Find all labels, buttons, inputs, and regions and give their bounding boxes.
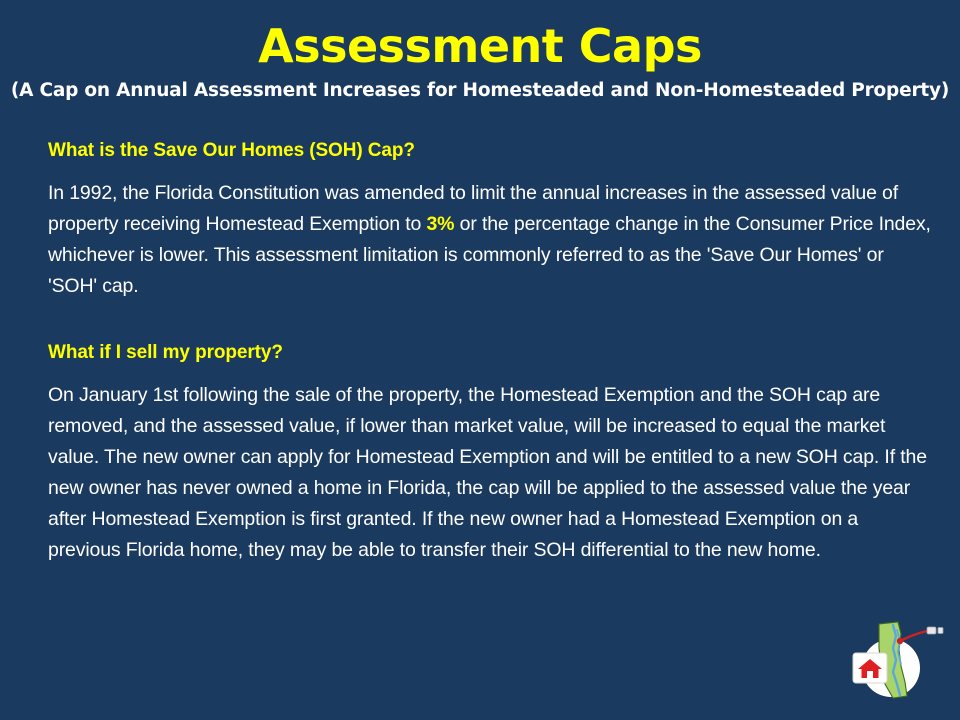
content-area: What is the Save Our Homes (SOH) Cap? In… <box>48 140 934 570</box>
property-appraiser-logo <box>843 618 948 706</box>
logo-pointer-arrow-icon <box>900 631 927 641</box>
logo-house-door-icon <box>867 671 873 678</box>
section-sell-property: What if I sell my property? On January 1… <box>48 342 934 566</box>
logo-graphic <box>843 618 948 706</box>
logo-location-marker-icon <box>897 638 903 644</box>
logo-house-card-icon <box>853 653 887 683</box>
section-body-soh-cap: In 1992, the Florida Constitution was am… <box>48 178 934 302</box>
section-spacer <box>48 306 934 342</box>
title-block: Assessment Caps (A Cap on Annual Assessm… <box>0 0 960 101</box>
section-heading-soh-cap: What is the Save Our Homes (SOH) Cap? <box>48 140 934 162</box>
section-body-sell-property: On January 1st following the sale of the… <box>48 380 934 566</box>
soh-cap-percent-highlight: 3% <box>426 213 454 235</box>
logo-cursor-tail-icon <box>938 628 943 634</box>
slide-root: Assessment Caps (A Cap on Annual Assessm… <box>0 0 960 720</box>
page-subtitle: (A Cap on Annual Assessment Increases fo… <box>0 80 960 101</box>
section-heading-sell-property: What if I sell my property? <box>48 342 934 364</box>
section-soh-cap: What is the Save Our Homes (SOH) Cap? In… <box>48 140 934 302</box>
logo-cursor-icon <box>927 627 936 634</box>
page-title: Assessment Caps <box>0 22 960 70</box>
